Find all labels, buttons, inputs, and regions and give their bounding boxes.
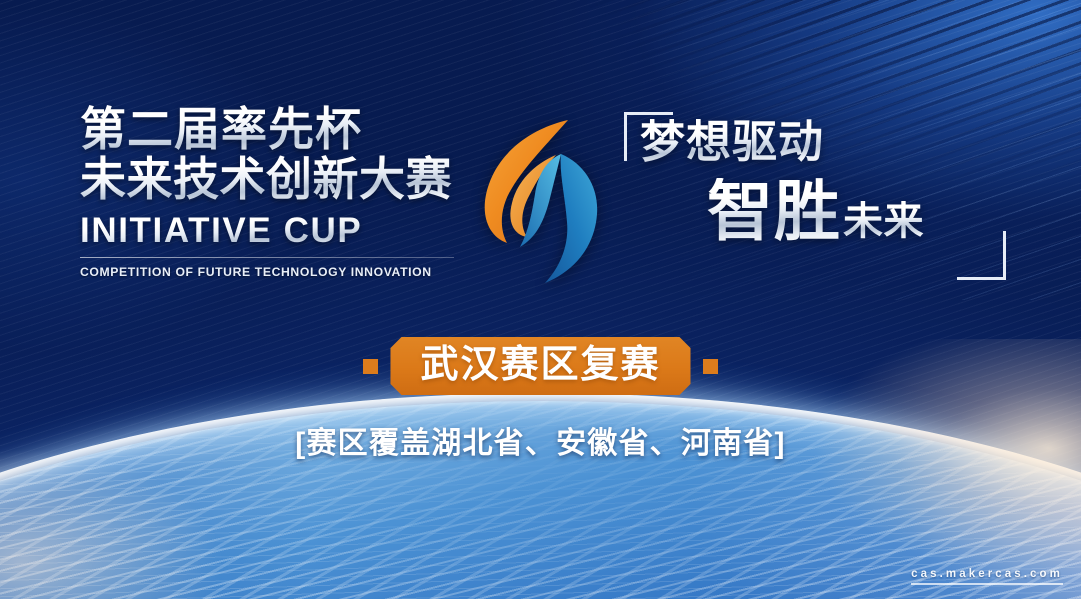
slogan-suffix: 未来 [843, 201, 924, 241]
corner-bracket-bottom-right-icon [957, 231, 1006, 280]
title-block: 第二届率先杯 未来技术创新大赛 INITIATIVE CUP COMPETITI… [80, 104, 470, 279]
region-scope-text: [赛区覆盖湖北省、安徽省、河南省] [0, 418, 1081, 462]
english-subtitle: COMPETITION OF FUTURE TECHNOLOGY INNOVAT… [80, 265, 470, 279]
initiative-cup-logo [473, 108, 605, 286]
slogan-block: 梦想驱动 智胜 未来 [618, 106, 1010, 284]
watermark-url: cas.makercas.com [911, 568, 1063, 580]
badge-left-square-icon [363, 359, 378, 374]
slogan-line-2: 智胜 未来 [707, 178, 924, 244]
slogan-emphasis: 智胜 [707, 178, 841, 244]
badge-right-square-icon [703, 359, 718, 374]
region-badge: 武汉赛区复赛 [390, 337, 690, 395]
title-divider [80, 257, 454, 258]
english-title: INITIATIVE CUP [80, 213, 470, 248]
event-banner: 第二届率先杯 未来技术创新大赛 INITIATIVE CUP COMPETITI… [0, 0, 1081, 599]
slogan-line-1: 梦想驱动 [640, 119, 824, 164]
watermark: cas.makercas.com [911, 568, 1063, 585]
title-line-2: 未来技术创新大赛 [80, 154, 470, 204]
watermark-underline [911, 583, 1063, 585]
region-badge-label: 武汉赛区复赛 [420, 346, 660, 384]
title-line-1: 第二届率先杯 [80, 104, 470, 154]
badge-row: 武汉赛区复赛 [0, 337, 1081, 395]
